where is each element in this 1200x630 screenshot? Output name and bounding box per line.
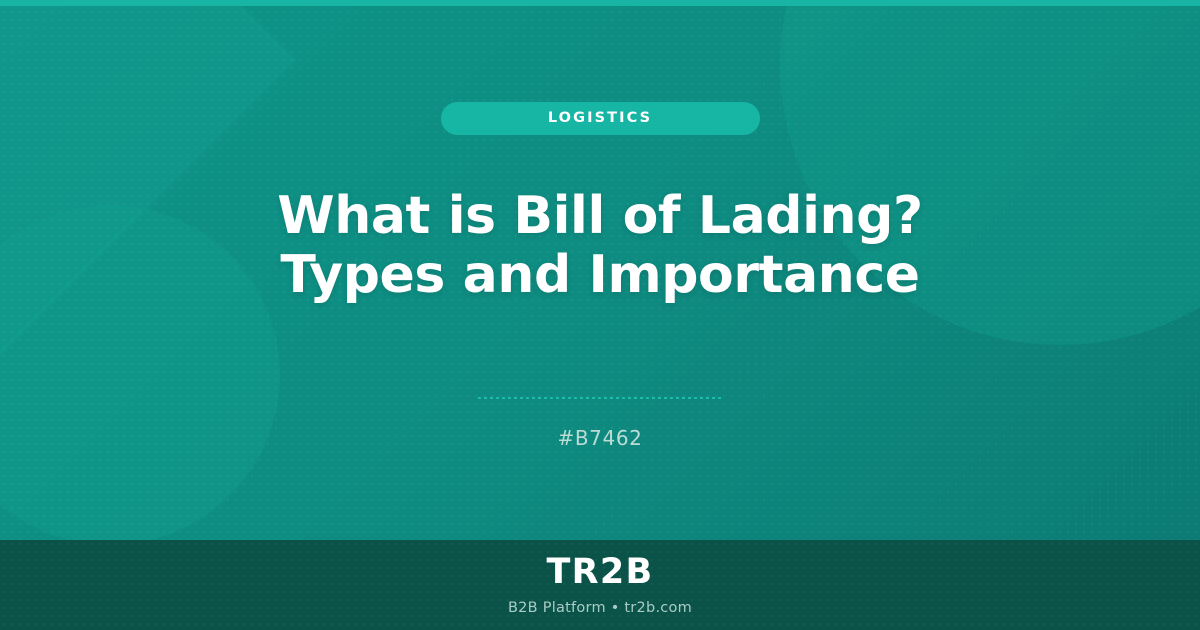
- brand-tagline: B2B Platform • tr2b.com: [508, 601, 692, 616]
- headline-line-2: Types and Importance: [220, 246, 980, 305]
- card-content: LOGISTICS What is Bill of Lading? Types …: [0, 0, 1200, 540]
- dashed-divider: [478, 397, 722, 399]
- category-badge: LOGISTICS: [441, 102, 760, 135]
- brand-logo: TR2B: [546, 555, 653, 590]
- headline-line-1: What is Bill of Lading?: [220, 187, 980, 246]
- article-code: #B7462: [558, 426, 643, 450]
- og-share-card: LOGISTICS What is Bill of Lading? Types …: [0, 0, 1200, 630]
- card-footer: TR2B B2B Platform • tr2b.com: [0, 540, 1200, 630]
- top-accent-bar: [0, 0, 1200, 6]
- page-title: What is Bill of Lading? Types and Import…: [220, 187, 980, 305]
